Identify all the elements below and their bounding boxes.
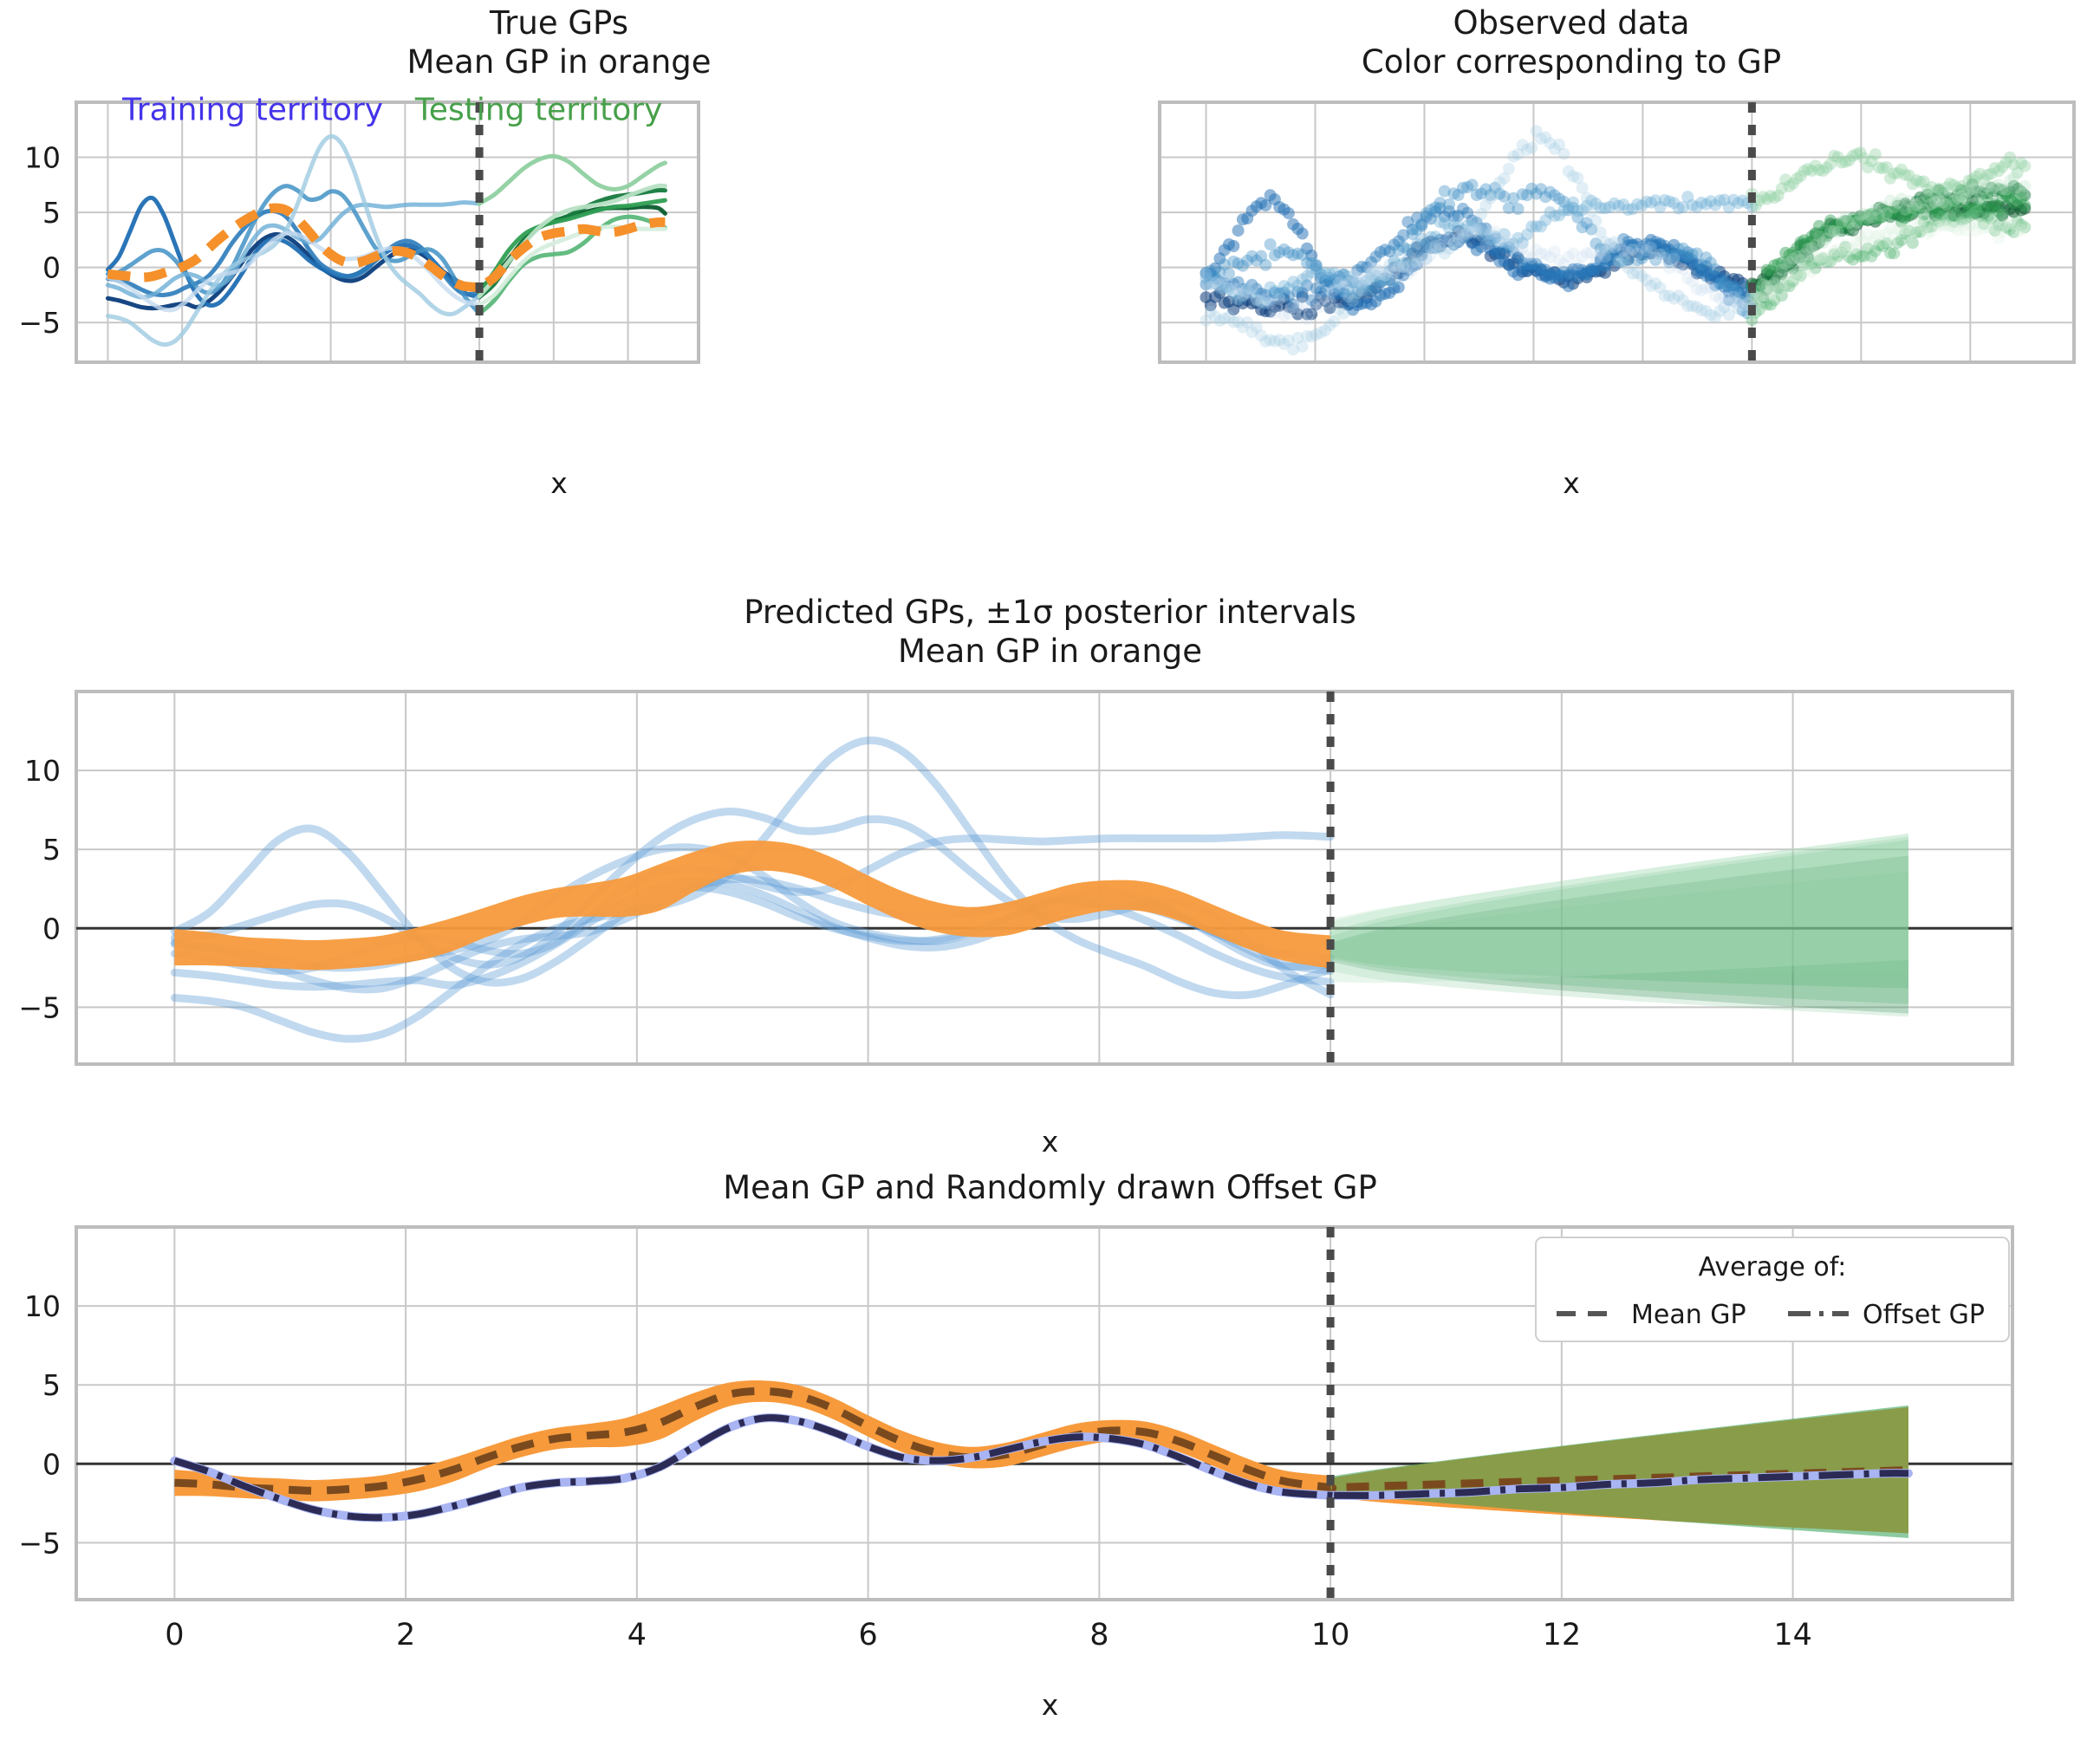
xlabel-mean-and-offset: x — [0, 1688, 2100, 1722]
y-tick-label: −5 — [18, 1526, 61, 1560]
x-tick-label: 6 — [858, 1618, 877, 1652]
y-tick-label: 5 — [42, 833, 61, 867]
panel-predicted-gps: 1050−5 — [0, 685, 2100, 1066]
observed-point-train — [1297, 341, 1309, 353]
observed-point-train — [1557, 148, 1570, 160]
observed-point-train — [1265, 238, 1277, 250]
observed-point-train — [1200, 268, 1213, 280]
observed-point-train — [1415, 220, 1427, 232]
panel-mean-and-offset: 1050−502468101214Average of:Mean GPOffse… — [0, 1220, 2100, 1636]
training-territory-label: Training territory — [121, 92, 383, 127]
y-tick-label: −5 — [18, 990, 61, 1024]
observed-point-test — [1869, 148, 1882, 160]
observed-point-test — [2019, 160, 2031, 172]
observed-point-test — [2019, 221, 2031, 233]
legend: Average of:Mean GPOffset GP — [1536, 1237, 2009, 1341]
legend-label-offset-gp: Offset GP — [1863, 1300, 1985, 1330]
x-tick-label: 14 — [1773, 1618, 1812, 1652]
observed-point-train — [1329, 315, 1341, 328]
panel-title-observed-data: Observed data Color corresponding to GP — [1086, 3, 2057, 81]
x-tick-label: 10 — [1311, 1618, 1350, 1652]
panel-title-true-gps: True GPs Mean GP in orange — [78, 3, 1040, 81]
y-tick-label: 5 — [42, 196, 61, 230]
x-tick-label: 8 — [1089, 1618, 1109, 1652]
xlabel-true-gps: x — [78, 466, 1040, 500]
y-tick-label: 0 — [42, 912, 61, 945]
observed-point-train — [1283, 207, 1295, 219]
observed-point-train — [1323, 295, 1336, 308]
observed-point-test — [1907, 237, 1919, 249]
y-tick-label: 0 — [42, 251, 61, 285]
observed-point-train — [1503, 163, 1515, 175]
y-tick-label: 5 — [42, 1368, 61, 1402]
observed-point-train — [1232, 224, 1245, 237]
y-tick-label: 0 — [42, 1447, 61, 1481]
xlabel-observed-data: x — [1086, 466, 2057, 500]
y-tick-label: 10 — [24, 754, 61, 788]
legend-label-mean-gp: Mean GP — [1631, 1300, 1746, 1330]
y-tick-label: −5 — [18, 306, 61, 340]
observed-point-test — [1888, 247, 1900, 259]
observed-point-train — [1709, 263, 1721, 276]
observed-point-train — [1246, 282, 1258, 295]
panel-title-mean-and-offset: Mean GP and Randomly drawn Offset GP — [0, 1168, 2100, 1207]
figure-root: True GPs Mean GP in orange 1050−5Trainin… — [0, 0, 2100, 1753]
panel-true-gps: 1050−5Training territoryTesting territor… — [0, 95, 1083, 355]
observed-point-train — [1525, 141, 1538, 153]
observed-point-train — [1227, 240, 1239, 252]
observed-point-train — [1297, 228, 1309, 240]
panel-title-predicted-gps: Predicted GPs, ±1σ posterior intervals M… — [0, 593, 2100, 671]
observed-point-train — [1489, 188, 1501, 200]
x-tick-label: 12 — [1543, 1618, 1582, 1652]
y-tick-label: 10 — [24, 1289, 61, 1323]
x-tick-label: 4 — [627, 1618, 647, 1652]
observed-point-train — [1512, 203, 1525, 215]
xlabel-predicted-gps: x — [0, 1125, 2100, 1159]
y-tick-label: 10 — [24, 141, 61, 175]
observed-point-test — [1805, 265, 1817, 277]
observed-point-train — [1337, 308, 1349, 320]
observed-point-train — [1479, 239, 1492, 251]
observed-point-train — [1443, 198, 1455, 211]
observed-point-train — [1590, 215, 1602, 227]
observed-point-test — [2019, 180, 2031, 192]
x-tick-label: 0 — [165, 1618, 184, 1652]
observed-point-train — [1310, 258, 1323, 270]
observed-point-train — [1259, 259, 1271, 271]
observed-point-train — [1581, 192, 1593, 204]
observed-point-train — [1563, 280, 1575, 292]
observed-point-train — [1273, 293, 1285, 305]
panel-observed-data — [1083, 95, 2100, 355]
x-tick-label: 2 — [396, 1618, 415, 1652]
testing-territory-label: Testing territory — [414, 92, 663, 127]
observed-point-test — [2019, 200, 2031, 212]
observed-point-train — [1361, 273, 1373, 285]
legend-title: Average of: — [1699, 1252, 1847, 1282]
